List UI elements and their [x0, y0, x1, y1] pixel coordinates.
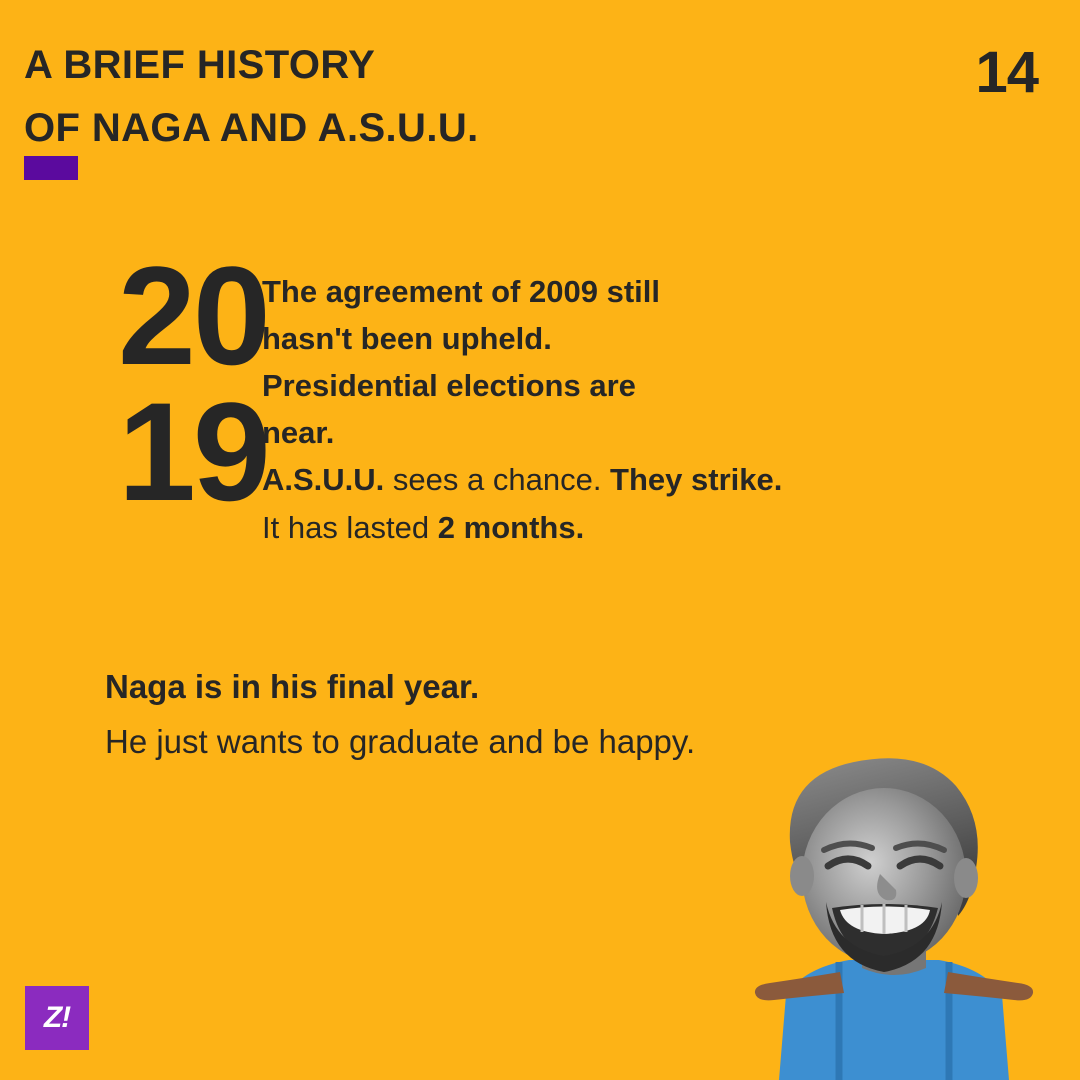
character-illustration-svg: [744, 750, 1044, 1080]
entry-emphasis-duration: 2 months.: [438, 510, 584, 545]
entry-line: The agreement of 2009 still: [262, 268, 850, 315]
photo-head: [790, 758, 978, 975]
entry-year-bottom: 19: [118, 384, 262, 520]
brand-logo[interactable]: Z!: [25, 986, 89, 1050]
closing-line-bold: Naga is in his final year.: [105, 660, 765, 715]
page-number: 14: [975, 44, 1038, 102]
entry-line: hasn't been upheld.: [262, 315, 850, 362]
page-title: A BRIEF HISTORY OF NAGA AND A.S.U.U.: [24, 34, 844, 160]
closing-line-light: He just wants to graduate and be happy.: [105, 715, 765, 770]
timeline-entry: 20 19 The agreement of 2009 still hasn't…: [0, 248, 1080, 551]
brand-logo-text: Z!: [44, 1003, 70, 1033]
closing-paragraph: Naga is in his final year. He just wants…: [105, 660, 765, 770]
slide-canvas: A BRIEF HISTORY OF NAGA AND A.S.U.U. 14 …: [0, 0, 1080, 1080]
entry-line-mixed-1: A.S.U.U. sees a chance. They strike.: [262, 456, 850, 503]
entry-emphasis-asuu: A.S.U.U.: [262, 462, 384, 497]
entry-line: near.: [262, 409, 850, 456]
entry-text: The agreement of 2009 still hasn't been …: [262, 248, 1080, 551]
entry-text-run: sees a chance.: [384, 462, 610, 497]
entry-year-top: 20: [118, 248, 262, 384]
entry-year: 20 19: [0, 248, 262, 520]
entry-line-mixed-2: It has lasted 2 months.: [262, 504, 850, 551]
page-title-line-2: OF NAGA AND A.S.U.U.: [24, 97, 844, 160]
entry-emphasis-strike: They strike.: [610, 462, 782, 497]
page-title-line-1: A BRIEF HISTORY: [24, 34, 844, 97]
title-underline-bar: [24, 156, 78, 180]
entry-text-run: It has lasted: [262, 510, 438, 545]
character-illustration: [744, 750, 1044, 1080]
entry-line: Presidential elections are: [262, 362, 850, 409]
